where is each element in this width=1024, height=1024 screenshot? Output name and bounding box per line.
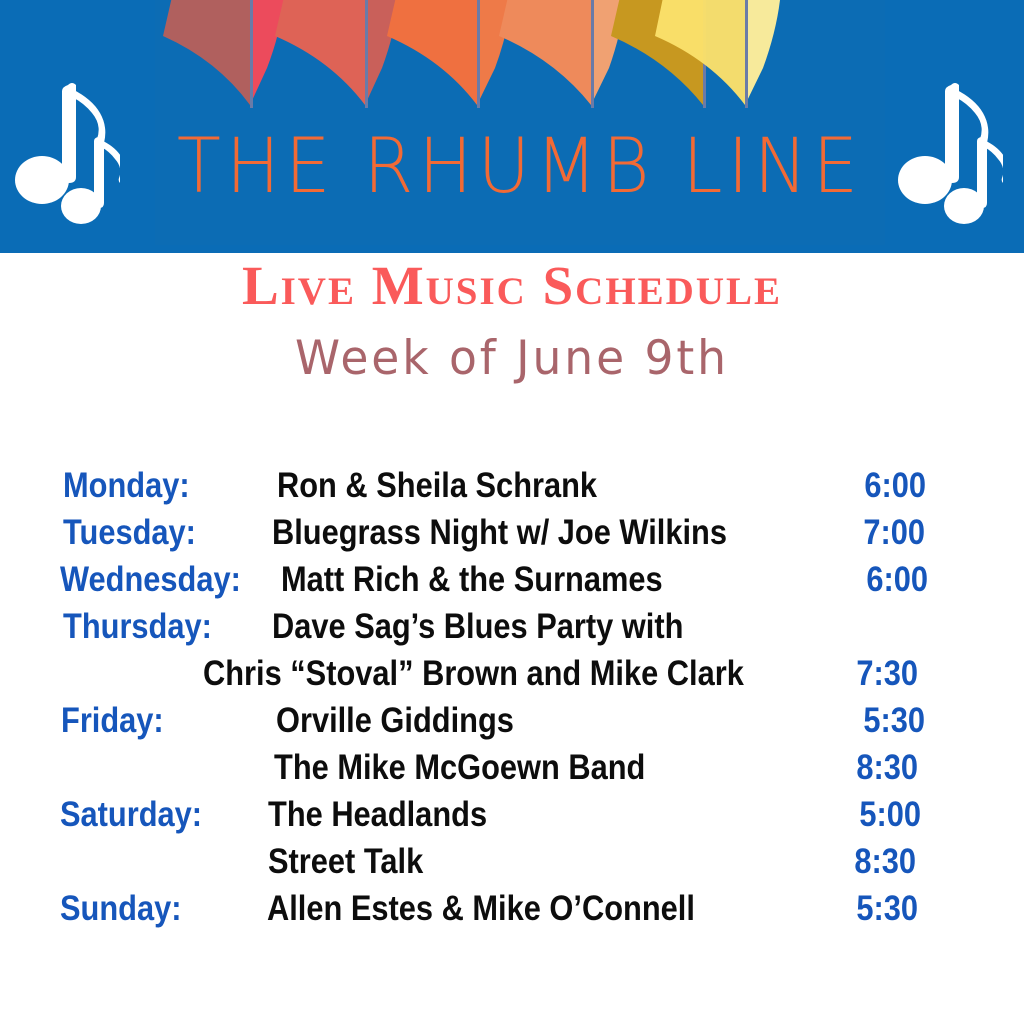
schedule-act-name: Bluegrass Night w/ Joe Wilkins: [272, 509, 727, 556]
schedule-time: 6:00: [864, 462, 926, 509]
schedule-act-name: The Headlands: [268, 791, 487, 838]
schedule-time: 8:30: [856, 744, 918, 791]
schedule-row: The Mike McGoewn Band8:30: [0, 744, 1024, 791]
schedule-day-label: Tuesday:: [63, 509, 196, 556]
schedule-time: 7:00: [863, 509, 925, 556]
schedule-day-label: Sunday:: [60, 885, 182, 932]
schedule-time: 8:30: [854, 838, 916, 885]
page-title: Live Music Schedule: [0, 256, 1024, 317]
schedule-act-name: Chris “Stoval” Brown and Mike Clark: [203, 650, 744, 697]
schedule-row: Street Talk8:30: [0, 838, 1024, 885]
schedule-row: Tuesday:Bluegrass Night w/ Joe Wilkins7:…: [0, 509, 1024, 556]
week-subtitle: Week of June 9th: [15, 333, 1008, 385]
music-note-icon: [10, 75, 120, 225]
schedule-row: Saturday:The Headlands5:00: [0, 791, 1024, 838]
schedule-row: Thursday:Dave Sag’s Blues Party with: [0, 603, 1024, 650]
schedule-act-name: The Mike McGoewn Band: [274, 744, 645, 791]
schedule-act-name: Ron & Sheila Schrank: [277, 462, 597, 509]
schedule-row: Friday:Orville Giddings5:30: [0, 697, 1024, 744]
schedule-row: Wednesday:Matt Rich & the Surnames6:00: [0, 556, 1024, 603]
schedule-time: 5:30: [863, 697, 925, 744]
logo-wordmark: THE RHUMB LINE: [155, 128, 885, 204]
schedule-act-name: Street Talk: [268, 838, 423, 885]
schedule-row: Monday:Ron & Sheila Schrank6:00: [0, 462, 1024, 509]
schedule-day-label: Wednesday:: [60, 556, 241, 603]
schedule-row: Sunday:Allen Estes & Mike O’Connell5:30: [0, 885, 1024, 932]
schedule-time: 5:00: [859, 791, 921, 838]
schedule-time: 5:30: [856, 885, 918, 932]
schedule-time: 6:00: [866, 556, 928, 603]
schedule-day-label: Saturday:: [60, 791, 202, 838]
schedule-day-label: Friday:: [61, 697, 164, 744]
schedule-list: Monday:Ron & Sheila Schrank6:00Tuesday:B…: [0, 462, 1024, 932]
schedule-day-label: Thursday:: [63, 603, 212, 650]
schedule-time: 7:30: [856, 650, 918, 697]
schedule-act-name: Allen Estes & Mike O’Connell: [267, 885, 695, 932]
schedule-day-label: Monday:: [63, 462, 190, 509]
schedule-act-name: Orville Giddings: [276, 697, 514, 744]
header-band: THE RHUMB LINE: [0, 0, 1024, 253]
schedule-act-name: Dave Sag’s Blues Party with: [272, 603, 683, 650]
music-note-icon: [893, 75, 1003, 225]
schedule-act-name: Matt Rich & the Surnames: [281, 556, 663, 603]
schedule-row: Chris “Stoval” Brown and Mike Clark7:30: [0, 650, 1024, 697]
